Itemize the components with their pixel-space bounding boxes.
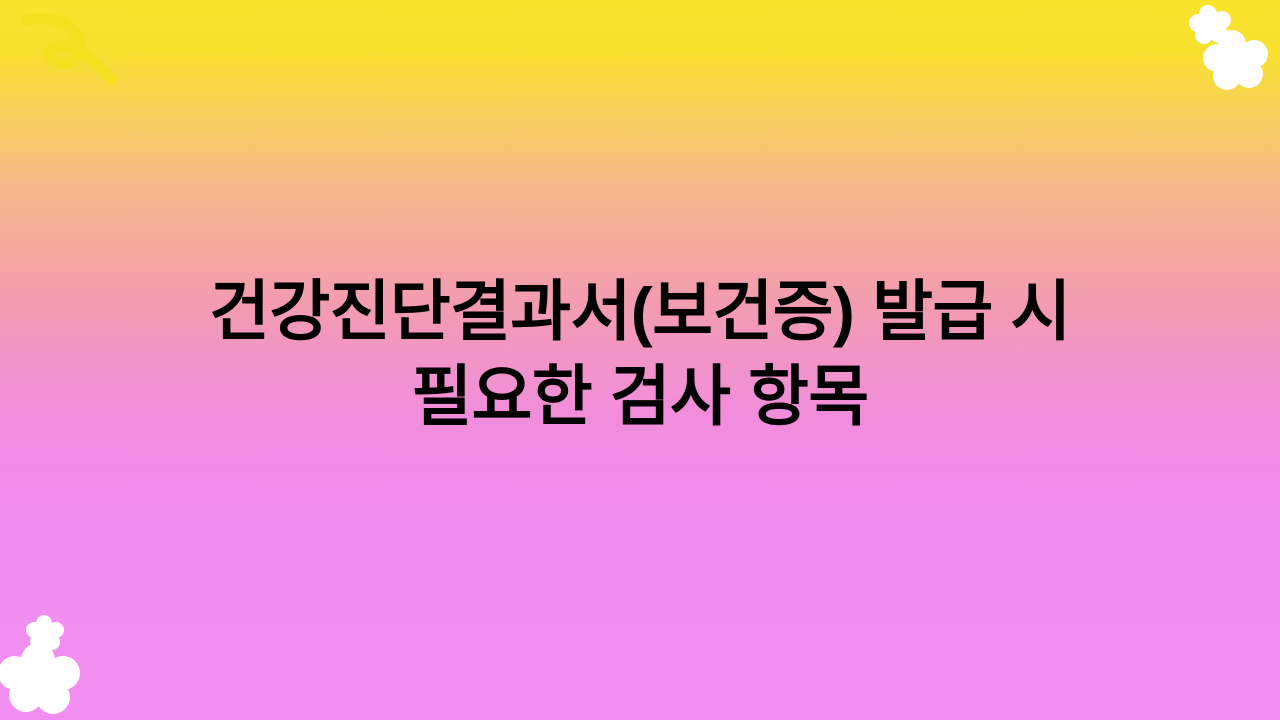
page-title: 건강진단결과서(보건증) 발급 시 필요한 검사 항목 [80,270,1200,438]
title-block: 건강진단결과서(보건증) 발급 시 필요한 검사 항목 [0,0,1280,720]
title-line-2: 필요한 검사 항목 [80,355,1200,438]
thumbnail-card: 건강진단결과서(보건증) 발급 시 필요한 검사 항목 [0,0,1280,720]
title-line-1: 건강진단결과서(보건증) 발급 시 [80,270,1200,353]
